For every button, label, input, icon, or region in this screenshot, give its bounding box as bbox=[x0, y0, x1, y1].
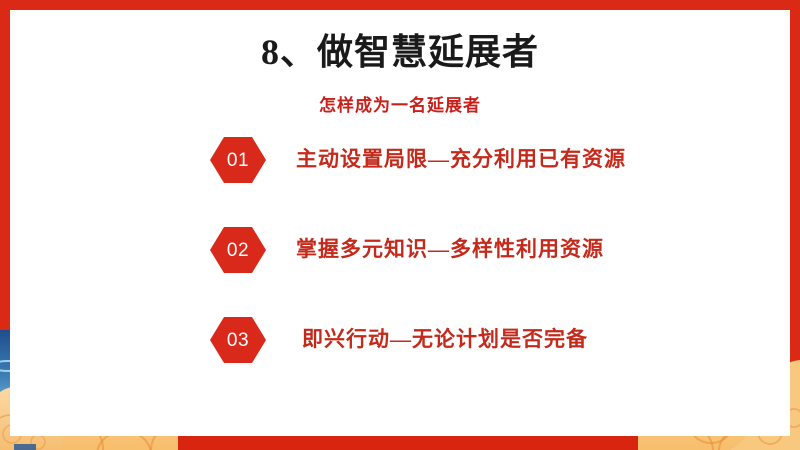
hexagon-badge-icon: 02 bbox=[210, 227, 266, 273]
list-item[interactable]: 02 掌握多元知识—多样性利用资源 bbox=[10, 220, 790, 310]
content-panel: 8、做智慧延展者 怎样成为一名延展者 01 主动设置局限—充分利用已有资源 02… bbox=[10, 10, 790, 436]
list-item-text: 主动设置局限—充分利用已有资源 bbox=[296, 144, 716, 174]
page-title: 8、做智慧延展者 bbox=[10, 30, 790, 74]
list-item-text: 掌握多元知识—多样性利用资源 bbox=[296, 234, 716, 264]
hexagon-badge-icon: 03 bbox=[210, 317, 266, 363]
list-item-number: 02 bbox=[227, 241, 249, 260]
decorative-red-bar bbox=[178, 434, 638, 450]
list-item[interactable]: 03 即兴行动—无论计划是否完备 bbox=[10, 310, 790, 400]
hexagon-badge-icon: 01 bbox=[210, 137, 266, 183]
list-item-number: 03 bbox=[227, 331, 249, 350]
page-subtitle: 怎样成为一名延展者 bbox=[10, 94, 790, 118]
numbered-list: 01 主动设置局限—充分利用已有资源 02 掌握多元知识—多样性利用资源 03 bbox=[10, 130, 790, 400]
slide-root: 8、做智慧延展者 怎样成为一名延展者 01 主动设置局限—充分利用已有资源 02… bbox=[0, 0, 800, 450]
list-item-text: 即兴行动—无论计划是否完备 bbox=[302, 324, 722, 354]
list-item[interactable]: 01 主动设置局限—充分利用已有资源 bbox=[10, 130, 790, 220]
list-item-number: 01 bbox=[227, 151, 249, 170]
